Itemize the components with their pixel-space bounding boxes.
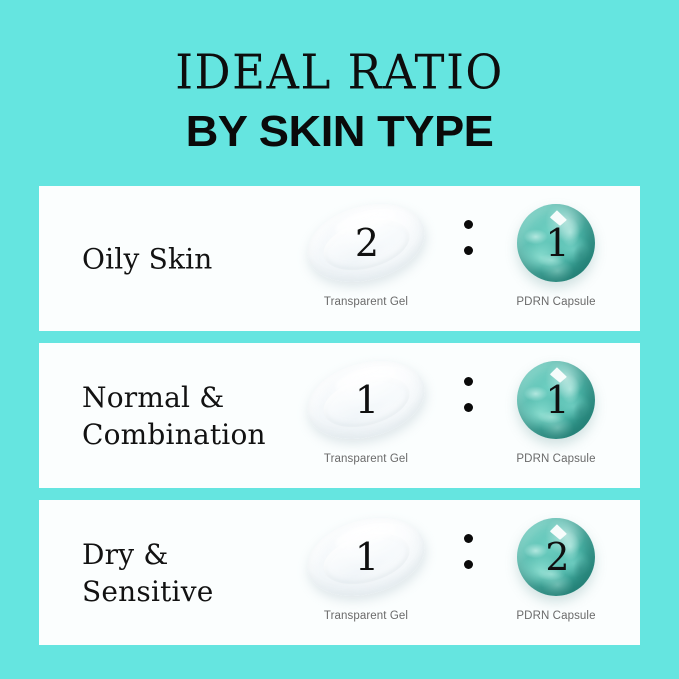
colon-dot-top-icon xyxy=(464,220,473,229)
capsule-visual: 2 xyxy=(486,508,626,606)
colon-dot-bottom-icon xyxy=(464,560,473,569)
ratio-separator xyxy=(462,534,476,574)
capsule-visual: 1 xyxy=(486,194,626,292)
ratio-group: 1 Transparent Gel 1 PDRN Capsule xyxy=(294,343,640,488)
capsule-caption: PDRN Capsule xyxy=(486,296,626,308)
pdrn-capsule-item: 1 PDRN Capsule xyxy=(486,343,626,488)
skin-type-label: Oily Skin xyxy=(82,240,213,277)
colon-dot-top-icon xyxy=(464,534,473,543)
gel-caption: Transparent Gel xyxy=(296,296,436,308)
gel-caption: Transparent Gel xyxy=(296,610,436,622)
header: IDEAL RATIO BY SKIN TYPE xyxy=(0,0,679,154)
ratio-card: Oily Skin 2 Transparent Gel xyxy=(39,186,640,331)
capsule-caption: PDRN Capsule xyxy=(486,453,626,465)
ratio-group: 2 Transparent Gel 1 PDRN Capsule xyxy=(294,186,640,331)
colon-dot-top-icon xyxy=(464,377,473,386)
ratio-card-list: Oily Skin 2 Transparent Gel xyxy=(39,186,640,657)
skin-type-label: Dry & Sensitive xyxy=(82,535,214,609)
pdrn-capsule-item: 1 PDRN Capsule xyxy=(486,186,626,331)
ratio-separator xyxy=(462,220,476,260)
gel-caption: Transparent Gel xyxy=(296,453,436,465)
gel-visual: 1 xyxy=(296,508,436,606)
transparent-gel-item: 1 Transparent Gel xyxy=(296,343,436,488)
transparent-gel-item: 2 Transparent Gel xyxy=(296,186,436,331)
gel-ratio-number: 2 xyxy=(296,194,436,292)
capsule-visual: 1 xyxy=(486,351,626,449)
gel-ratio-number: 1 xyxy=(296,508,436,606)
transparent-gel-item: 1 Transparent Gel xyxy=(296,500,436,645)
colon-dot-bottom-icon xyxy=(464,403,473,412)
pdrn-capsule-item: 2 PDRN Capsule xyxy=(486,500,626,645)
capsule-ratio-number: 2 xyxy=(486,508,626,606)
page-title-secondary: BY SKIN TYPE xyxy=(0,93,679,154)
capsule-caption: PDRN Capsule xyxy=(486,610,626,622)
gel-visual: 1 xyxy=(296,351,436,449)
ratio-separator xyxy=(462,377,476,417)
capsule-ratio-number: 1 xyxy=(486,351,626,449)
ratio-group: 1 Transparent Gel 2 PDRN Capsule xyxy=(294,500,640,645)
page-title-primary: IDEAL RATIO xyxy=(0,0,679,96)
ratio-card: Normal & Combination 1 Transparent Gel xyxy=(39,343,640,488)
capsule-ratio-number: 1 xyxy=(486,194,626,292)
colon-dot-bottom-icon xyxy=(464,246,473,255)
gel-visual: 2 xyxy=(296,194,436,292)
skin-type-label: Normal & Combination xyxy=(82,378,266,452)
ratio-card: Dry & Sensitive 1 Transparent Gel xyxy=(39,500,640,645)
gel-ratio-number: 1 xyxy=(296,351,436,449)
